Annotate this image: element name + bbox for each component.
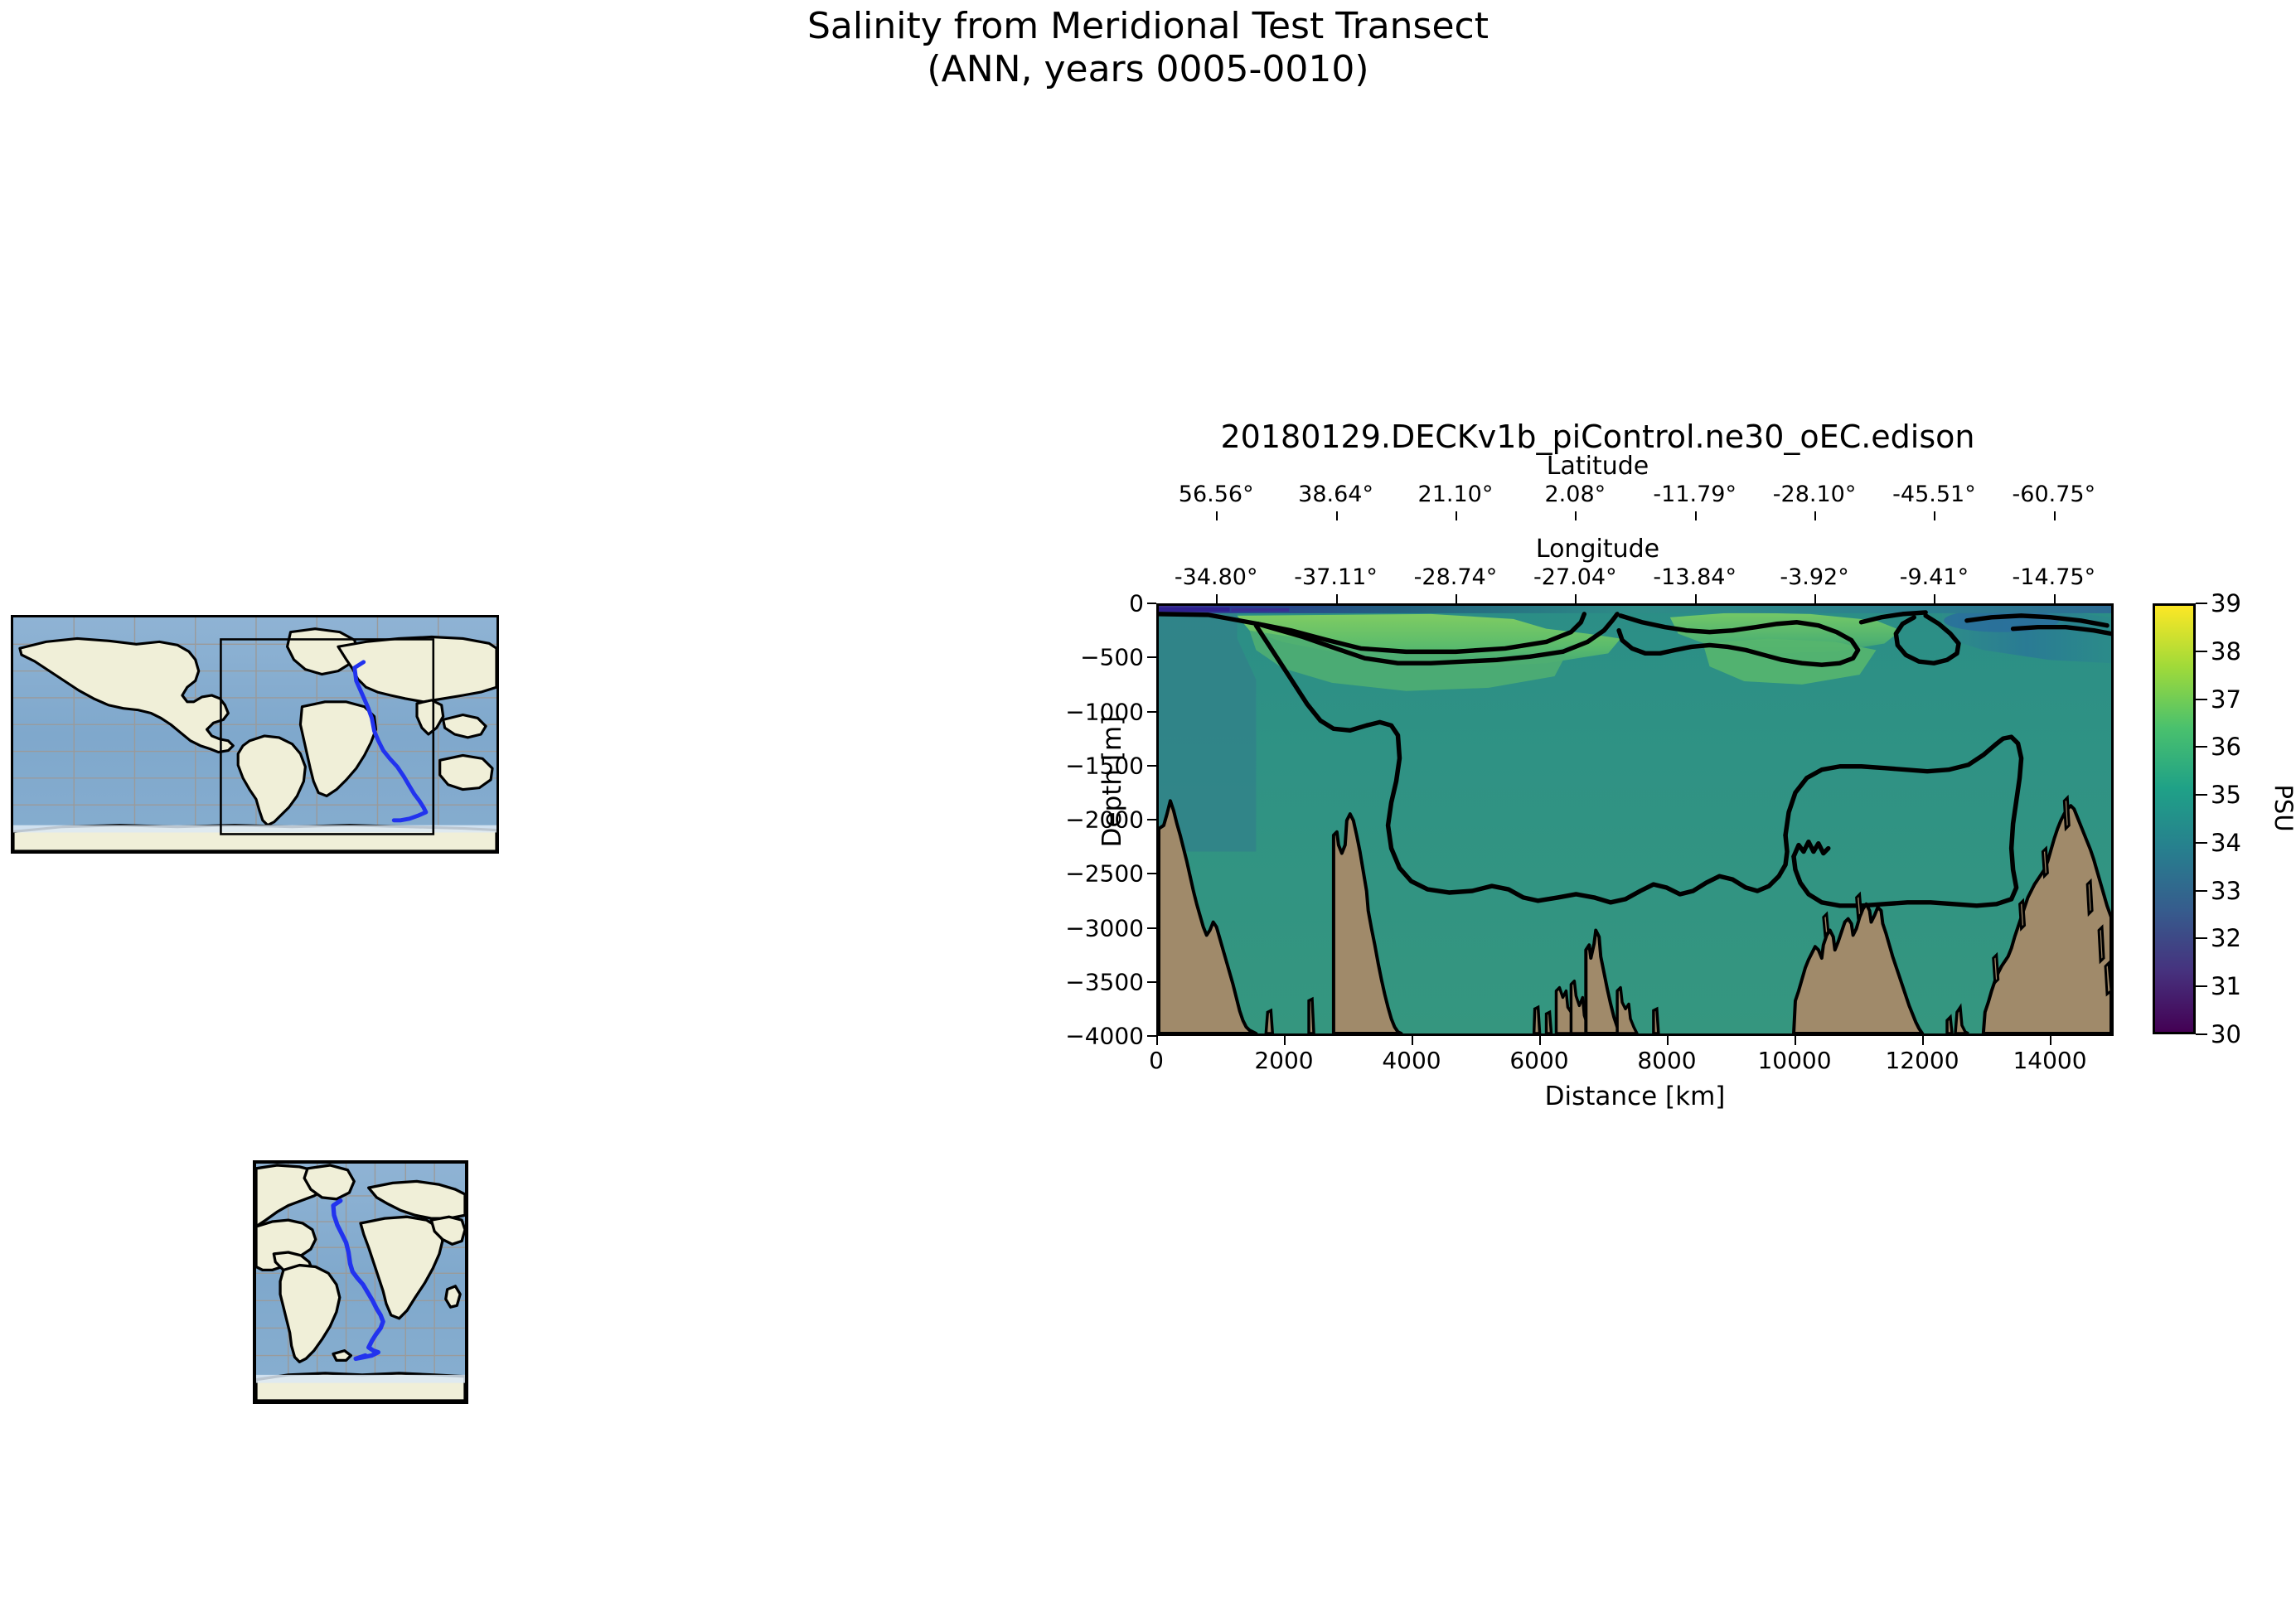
latitude-tickmark	[2054, 511, 2056, 520]
latitude-tickmark	[1934, 511, 1935, 520]
latitude-tick-label: 38.64°	[1298, 482, 1373, 507]
colorbar-tickmark	[2196, 794, 2207, 796]
latitude-tick-label: -11.79°	[1653, 482, 1737, 507]
bathymetry-spike-c	[1534, 1007, 1540, 1033]
depth-tickmarks	[1147, 603, 1156, 1036]
colorbar-tickmark	[2196, 1033, 2207, 1035]
distance-tickmark	[1922, 1036, 1924, 1045]
bathymetry-needle-e	[2042, 849, 2047, 877]
depth-tick-label: 0	[1129, 590, 1144, 617]
distance-tickmark	[2050, 1036, 2051, 1045]
depth-tickmark	[1147, 711, 1156, 713]
atlantic-transect-inset-map[interactable]	[253, 1160, 468, 1404]
bathymetry-spike-b	[1309, 999, 1314, 1033]
transect-cross-section-panel: 20180129.DECKv1b_piControl.ne30_oEC.edis…	[1078, 419, 2155, 1098]
bathymetry-needle-a	[1824, 914, 1829, 936]
colorbar-tick-labels: 39383736353433323130	[2211, 603, 2269, 1034]
longitude-tickmark	[1814, 594, 1816, 603]
bathymetry-needle-b	[1857, 894, 1862, 917]
longitude-tickmark	[1934, 594, 1935, 603]
salinity-section-plot-area[interactable]	[1156, 603, 2114, 1036]
colorbar-tickmark	[2196, 651, 2207, 652]
depth-tickmark	[1147, 873, 1156, 874]
depth-tickmark	[1147, 819, 1156, 820]
latitude-tick-label: 56.56°	[1179, 482, 1254, 507]
bathymetry-needle-i	[2105, 963, 2111, 995]
latitude-tickmark	[1456, 511, 1457, 520]
latitude-axis-label: Latitude	[1078, 452, 2118, 481]
longitude-tick-label: -14.75°	[2013, 564, 2096, 590]
colorbar-tickmark	[2196, 603, 2207, 604]
colorbar-tickmark	[2196, 937, 2207, 939]
depth-tickmark	[1147, 927, 1156, 929]
colorbar-tickmark	[2196, 842, 2207, 844]
latitude-tickmarks	[1156, 511, 2114, 520]
longitude-tick-label: -3.92°	[1780, 564, 1848, 590]
subplot-title: 20180129.DECKv1b_piControl.ne30_oEC.edis…	[1078, 419, 2118, 455]
depth-tickmark	[1147, 765, 1156, 767]
latitude-tick-label: -28.10°	[1773, 482, 1857, 507]
distance-tick-label: 0	[1149, 1047, 1164, 1074]
colorbar-gradient-bar[interactable]	[2153, 603, 2196, 1034]
distance-tickmark	[1539, 1036, 1541, 1045]
distance-axis-label: Distance [km]	[1156, 1082, 2114, 1111]
longitude-tick-label: -28.74°	[1414, 564, 1498, 590]
distance-tick-label: 2000	[1254, 1047, 1313, 1074]
colorbar-tick-label: 30	[2211, 1020, 2241, 1048]
colorbar-tick-label: 36	[2211, 733, 2241, 761]
inset-antarctic-ice-shelf	[256, 1375, 465, 1383]
latitude-tickmark	[1695, 511, 1697, 520]
distance-tick-label: 14000	[2013, 1047, 2086, 1074]
distance-tickmark	[1667, 1036, 1669, 1045]
depth-tick-label: −4000	[1065, 1023, 1144, 1050]
longitude-tickmark	[1575, 594, 1577, 603]
latitude-tickmark	[1336, 511, 1338, 520]
colorbar-tick-label: 39	[2211, 589, 2241, 617]
antarctic-ice-shelf	[13, 825, 496, 833]
bathymetry-needle-f	[2064, 797, 2069, 829]
colorbar-tickmark	[2196, 890, 2207, 892]
longitude-tick-label: -34.80°	[1175, 564, 1258, 590]
longitude-tickmark	[1695, 594, 1697, 603]
colorbar-tick-label: 37	[2211, 685, 2241, 714]
bathymetry-needle-g	[2087, 881, 2092, 914]
latitude-tick-label-row: 56.56°38.64°21.10°2.08°-11.79°-28.10°-45…	[1156, 482, 2114, 510]
longitude-tickmark	[1336, 594, 1338, 603]
latitude-tickmark	[1216, 511, 1218, 520]
figure-title-line-1: Salinity from Meridional Test Transect	[807, 5, 1489, 47]
distance-tick-label: 4000	[1382, 1047, 1441, 1074]
latitude-tick-label: -45.51°	[1892, 482, 1976, 507]
distance-tick-labels: 02000400060008000100001200014000	[1156, 1047, 2114, 1078]
inset-map-canvas	[256, 1164, 465, 1401]
depth-tickmark	[1147, 656, 1156, 658]
distance-tickmark	[1795, 1036, 1796, 1045]
figure-title-line-2: (ANN, years 0005-0010)	[0, 48, 2296, 91]
bathymetry-spike-i	[1947, 1017, 1952, 1033]
depth-tick-label: −3500	[1065, 968, 1144, 995]
distance-tickmark	[1284, 1036, 1286, 1045]
colorbar-unit-label: PSU	[2269, 742, 2296, 874]
salinity-section-canvas	[1159, 606, 2111, 1033]
longitude-tick-label-row: -34.80°-37.11°-28.74°-27.04°-13.84°-3.92…	[1156, 564, 2114, 593]
distance-tick-label: 12000	[1885, 1047, 1959, 1074]
colorbar-tickmark	[2196, 699, 2207, 700]
depth-axis-label: Depth [m]	[1097, 632, 1127, 931]
depth-tickmark	[1147, 1035, 1156, 1037]
overview-map-canvas	[13, 617, 496, 851]
longitude-tick-label: -27.04°	[1533, 564, 1617, 590]
bathymetry-needle-c	[1993, 955, 1998, 983]
bathymetry-needle-d	[2020, 901, 2025, 929]
bathymetry-spike-h	[1654, 1009, 1659, 1033]
longitude-tickmarks	[1156, 594, 2114, 603]
colorbar-tick-label: 35	[2211, 781, 2241, 809]
global-transect-overview-map[interactable]	[11, 615, 499, 854]
salinity-colorbar[interactable]: 39383736353433323130 PSU	[2153, 603, 2294, 1034]
latitude-tickmark	[1814, 511, 1816, 520]
depth-tickmark	[1147, 603, 1156, 604]
colorbar-tickmark	[2196, 746, 2207, 748]
surface-freshwater-layer	[1159, 606, 2111, 613]
colorbar-tick-label: 31	[2211, 972, 2241, 1000]
distance-tick-label: 10000	[1757, 1047, 1831, 1074]
distance-tick-label: 6000	[1509, 1047, 1568, 1074]
colorbar-tick-label: 32	[2211, 924, 2241, 952]
longitude-tickmark	[2054, 594, 2056, 603]
longitude-tick-label: -9.41°	[1900, 564, 1969, 590]
longitude-tickmark	[1456, 594, 1457, 603]
colorbar-tick-label: 38	[2211, 637, 2241, 666]
surface-fresh-core-north	[1159, 607, 1230, 612]
distance-tickmark	[1156, 1036, 1158, 1045]
latitude-tickmark	[1575, 511, 1577, 520]
distance-tickmarks	[1156, 1036, 2114, 1045]
bathymetry-spike-d	[1547, 1012, 1552, 1033]
latitude-tick-label: 2.08°	[1545, 482, 1606, 507]
longitude-tick-label: -13.84°	[1653, 564, 1737, 590]
bathymetry-needle-h	[2099, 927, 2104, 961]
colorbar-tick-label: 34	[2211, 829, 2241, 857]
colorbar-tick-label: 33	[2211, 877, 2241, 905]
figure-title: Salinity from Meridional Test Transect (…	[0, 5, 2296, 91]
longitude-axis-label: Longitude	[1078, 535, 2118, 564]
latitude-tick-label: -60.75°	[2013, 482, 2096, 507]
longitude-tick-label: -37.11°	[1294, 564, 1378, 590]
depth-tickmark	[1147, 981, 1156, 983]
surface-fresh-core-north-b	[1232, 608, 1290, 612]
distance-tickmark	[1412, 1036, 1413, 1045]
colorbar-tickmarks	[2196, 603, 2207, 1034]
colorbar-tickmark	[2196, 985, 2207, 987]
longitude-tickmark	[1216, 594, 1218, 603]
bathymetry-spike-a	[1266, 1010, 1272, 1033]
latitude-tick-label: 21.10°	[1418, 482, 1494, 507]
distance-tick-label: 8000	[1637, 1047, 1696, 1074]
